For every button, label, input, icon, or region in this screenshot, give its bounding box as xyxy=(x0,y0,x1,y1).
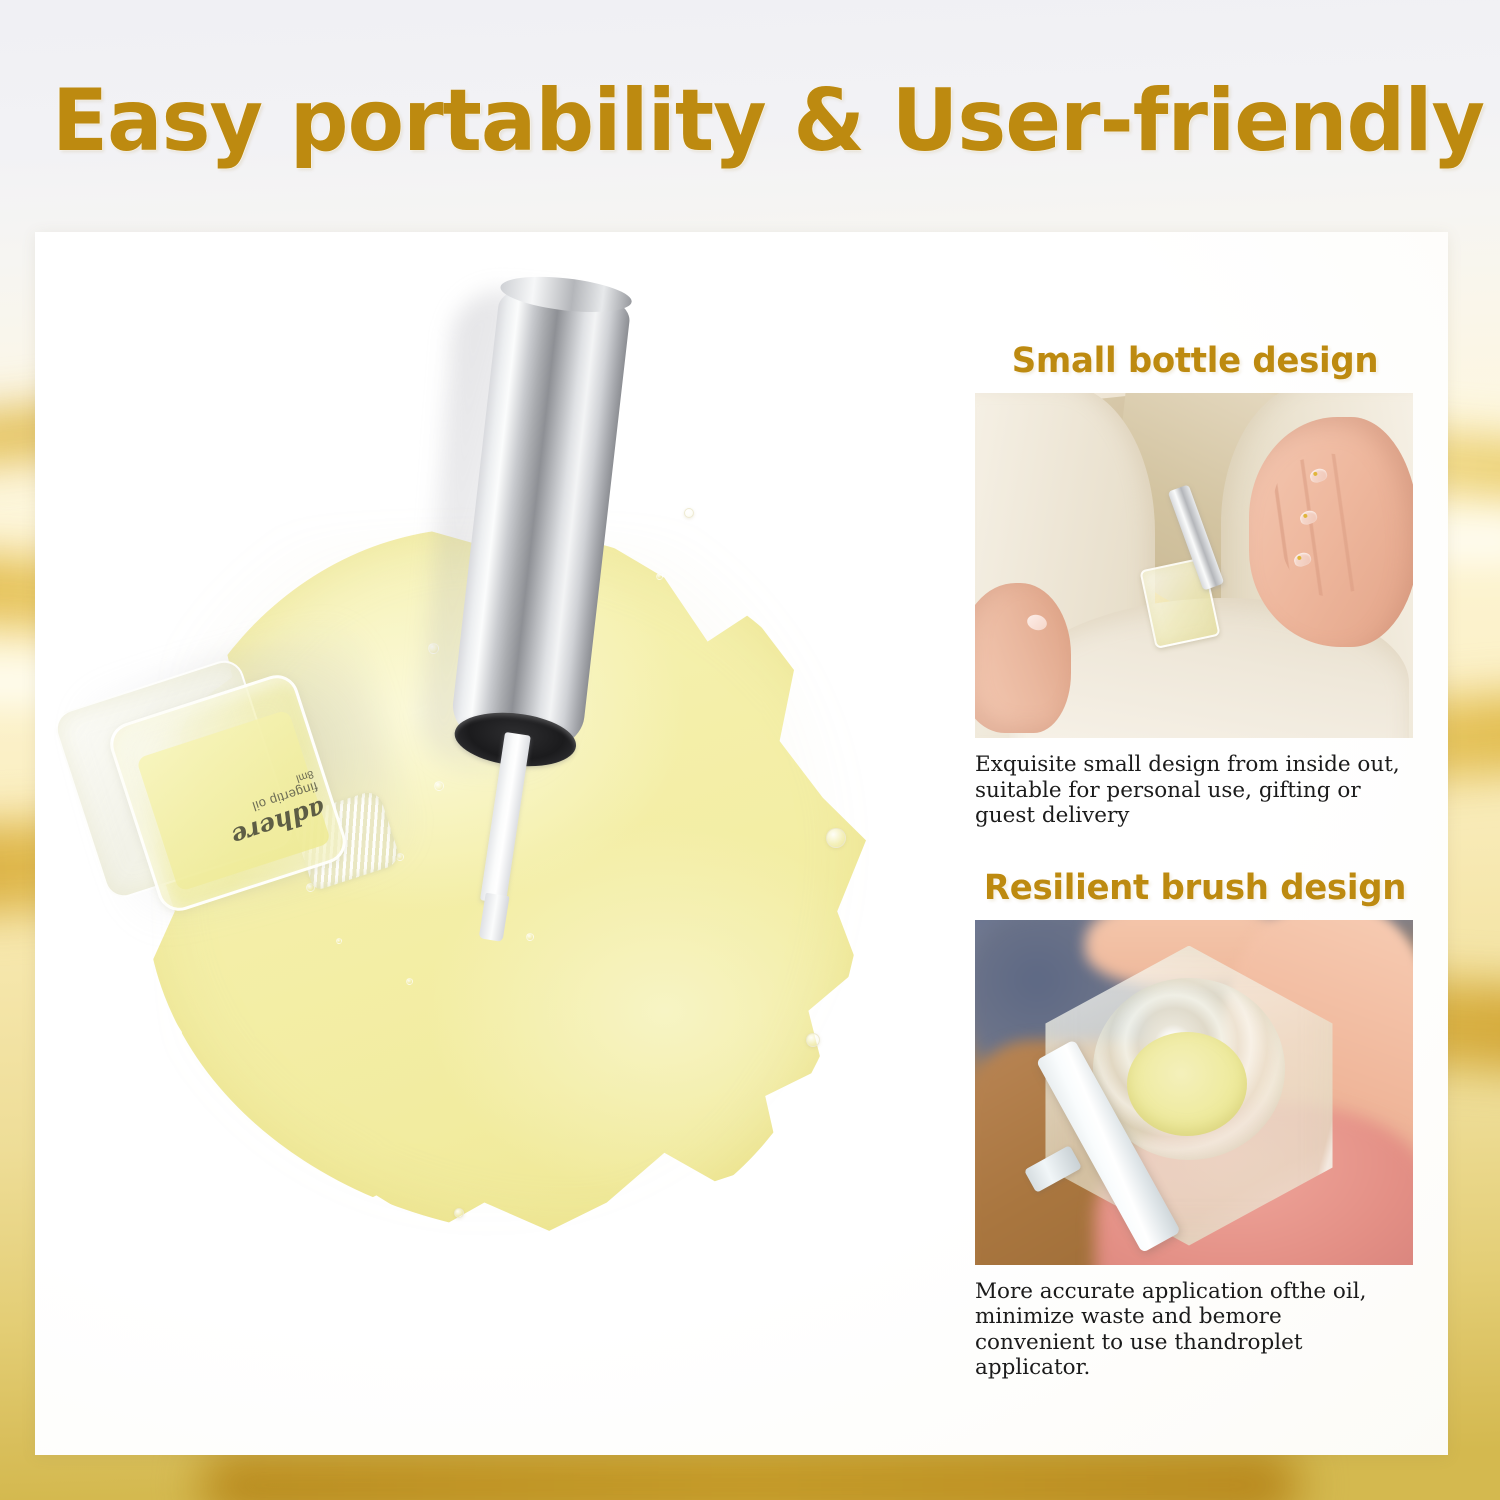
caption-resilient-brush: More accurate application ofthe oil, min… xyxy=(975,1279,1405,1381)
nail-gem-icon xyxy=(1313,471,1318,476)
page-title: Easy portability & User-friendly Design xyxy=(52,78,1389,164)
nail-gem-icon xyxy=(1303,513,1308,518)
photo-small-bottle-design xyxy=(975,393,1413,738)
section-heading-resilient-brush: Resilient brush design xyxy=(982,867,1409,909)
oil-inside-bottle xyxy=(1127,1032,1247,1136)
bg-oil-streak-bottom xyxy=(200,1450,1300,1500)
oil-droplet xyxy=(454,1208,464,1218)
feature-column: Small bottle design Exquisite small desi… xyxy=(975,340,1415,1381)
oil-droplet xyxy=(806,1033,820,1047)
oil-bubble xyxy=(526,933,534,941)
photo-resilient-brush-design xyxy=(975,920,1413,1265)
left-hand xyxy=(975,583,1071,733)
bottle-oil-fill xyxy=(136,709,331,892)
oil-bubble xyxy=(406,978,413,985)
nail-gem-icon xyxy=(1297,555,1302,560)
glass-bottle: adhere fingertip oil 8ml xyxy=(48,633,468,973)
marketing-page: Easy portability & User-friendly Design xyxy=(0,0,1500,1500)
caption-small-bottle: Exquisite small design from inside out, … xyxy=(975,752,1405,829)
hero-product-image: adhere fingertip oil 8ml xyxy=(36,233,936,1453)
section-heading-small-bottle: Small bottle design xyxy=(982,340,1409,382)
oil-droplet xyxy=(826,828,846,848)
